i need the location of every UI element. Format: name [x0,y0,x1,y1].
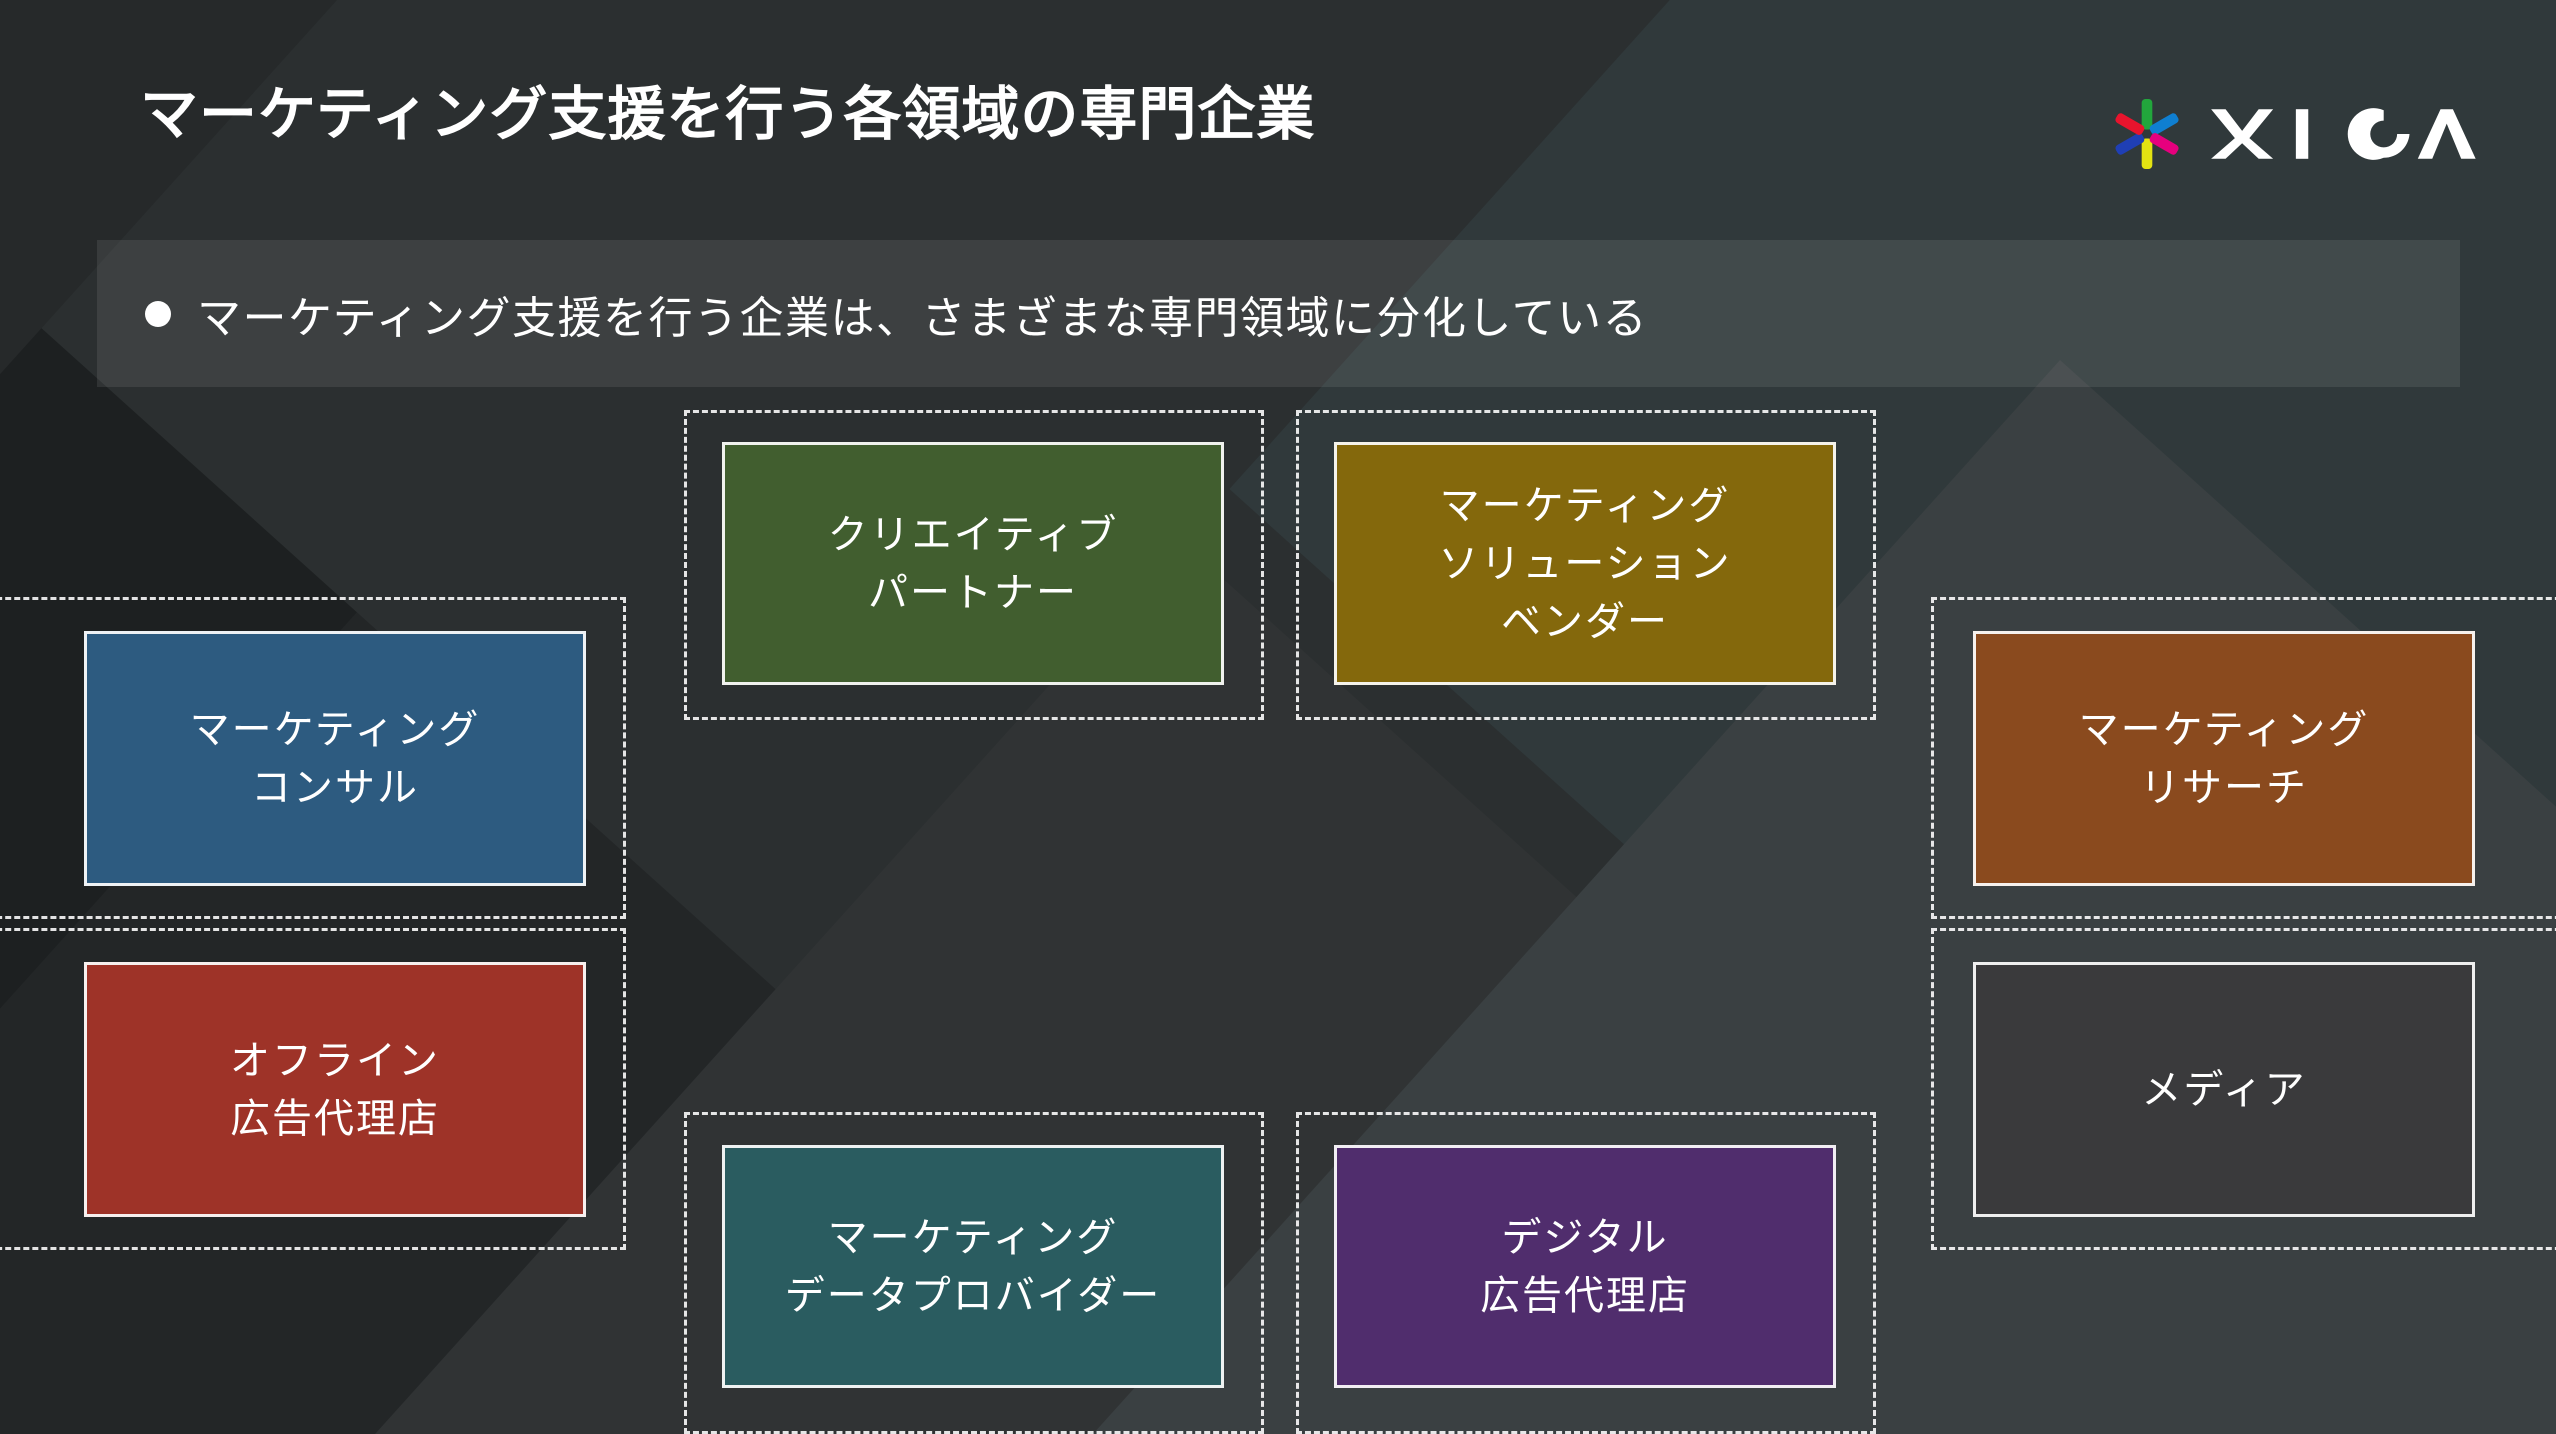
card-label: メディア [2141,1061,2306,1119]
card-marketing-research[interactable]: マーケティング リサーチ [1973,631,2475,886]
card-offline-ad-agency[interactable]: オフライン 広告代理店 [84,962,586,1217]
card-marketing-solution-vendor[interactable]: マーケティング ソリューション ベンダー [1334,442,1836,685]
card-label: マーケティング ソリューション ベンダー [1438,477,1731,651]
bullet-dot-icon [145,301,171,327]
card-marketing-data-provider[interactable]: マーケティング データプロバイダー [722,1145,1224,1388]
xica-flower-icon [2109,96,2185,172]
card-label: マーケティング コンサル [190,701,481,817]
slide-root: マーケティング支援を行う各領域の専門企業 マーケティング支援 [0,0,2556,1434]
card-label: マーケティング データプロバイダー [785,1209,1161,1325]
subtitle-text: マーケティング支援を行う企業は、さまざまな専門領域に分化している [197,282,1648,346]
page-title: マーケティング支援を行う各領域の専門企業 [140,86,1315,144]
card-label: クリエイティブ パートナー [828,506,1119,622]
card-creative-partner[interactable]: クリエイティブ パートナー [722,442,1224,685]
card-marketing-consul[interactable]: マーケティング コンサル [84,631,586,886]
card-digital-ad-agency[interactable]: デジタル 広告代理店 [1334,1145,1836,1388]
card-label: デジタル 広告代理店 [1480,1209,1690,1325]
xica-wordmark-icon [2207,103,2476,165]
card-label: オフライン 広告代理店 [230,1032,440,1148]
card-label: マーケティング リサーチ [2079,701,2370,817]
subtitle-banner: マーケティング支援を行う企業は、さまざまな専門領域に分化している [97,240,2460,387]
xica-logo [2109,96,2476,172]
card-media[interactable]: メディア [1973,962,2475,1217]
